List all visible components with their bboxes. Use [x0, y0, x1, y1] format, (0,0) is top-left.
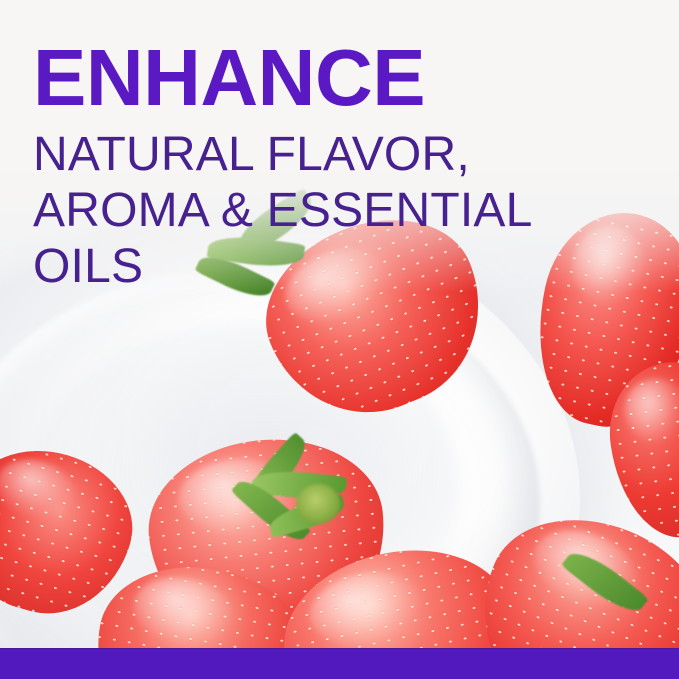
page-title: ENHANCE [33, 40, 425, 115]
strawberry-right-mid [600, 354, 679, 545]
subtitle: NATURAL FLAVOR, AROMA & ESSENTIAL OILS [33, 127, 533, 295]
accent-bar [0, 648, 679, 679]
calyx-hub [296, 484, 340, 524]
product-feature-banner: ENHANCE NATURAL FLAVOR, AROMA & ESSENTIA… [0, 0, 679, 679]
